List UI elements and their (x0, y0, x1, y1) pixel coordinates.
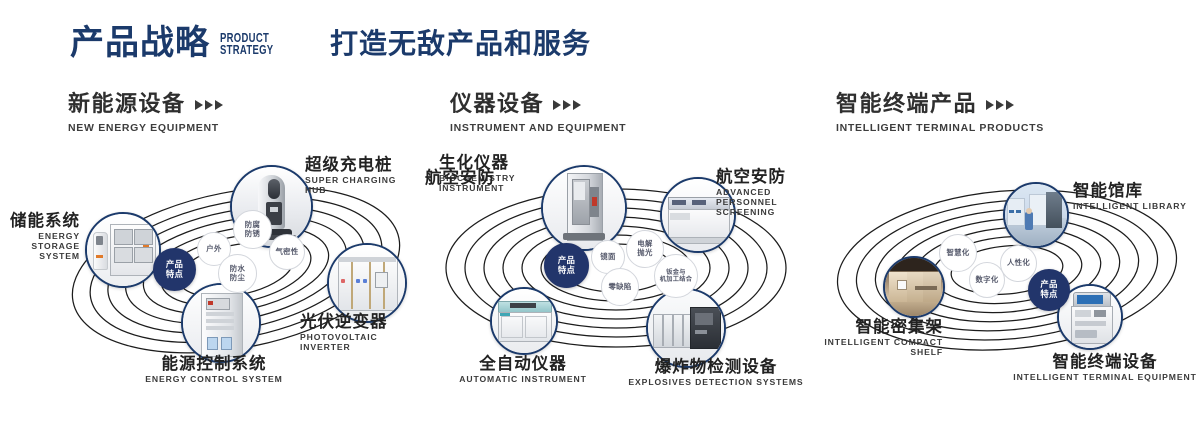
label-aviation-security-left: 航空安防 (390, 169, 495, 187)
feature-bubble-waterproof[interactable]: 防水 防尘 (218, 254, 257, 293)
chevron-right-icon (195, 100, 223, 110)
node-label-cn: 全自动仪器 (438, 355, 608, 373)
section-header-intelligent: 智能终端产品 INTELLIGENT TERMINAL PRODUCTS (836, 94, 1044, 134)
label-intelligent-terminal-equipment: 智能终端设备 INTELLIGENT TERMINAL EQUIPMENT (1010, 353, 1200, 383)
node-label-en: EXPLOSIVES DETECTION SYSTEMS (606, 378, 826, 388)
label-intelligent-compact-shelf: 智能密集架 INTELLIGENT COMPACT SHELF (773, 318, 943, 358)
compact-shelf-photo (885, 258, 943, 316)
page-title: 产品战略 PRODUCT STRATEGY (70, 26, 290, 60)
section-title-cn: 智能终端产品 (836, 94, 977, 116)
section-title-en: NEW ENERGY EQUIPMENT (68, 122, 223, 134)
feature-bubble-anticorrosion[interactable]: 防腐 防锈 (233, 210, 272, 249)
node-label-cn: 能源控制系统 (89, 355, 339, 373)
node-label-en: PHOTOVOLTAIC INVERTER (300, 333, 415, 352)
node-intelligent-compact-shelf[interactable] (883, 256, 945, 318)
node-label-cn: 智能密集架 (773, 318, 943, 336)
page-title-en: PRODUCT STRATEGY (220, 32, 273, 61)
node-label-cn: 光伏逆变器 (300, 313, 415, 331)
label-photovoltaic-inverter: 光伏逆变器 PHOTOVOLTAIC INVERTER (300, 313, 415, 353)
cluster-new-energy: 超级充电桩 SUPER CHARGING HUB 储能系统 (55, 150, 415, 380)
node-energy-control-system[interactable] (181, 283, 261, 363)
feature-bubble-zero-defect[interactable]: 零缺陷 (601, 268, 639, 306)
section-title-cn: 仪器设备 (450, 94, 544, 116)
cluster-instrument: 生化仪器 BIOCHEMISTRY INSTRUMENT 航空安防 航空安防 A… (420, 150, 810, 385)
explosives-detector-photo (648, 290, 724, 366)
label-intelligent-library: 智能馆库 INTELLIGENT LIBRARY (1073, 182, 1187, 212)
feature-bubble-key[interactable]: 产品 特点 (153, 248, 196, 291)
page-subtitle: 打造无敌产品和服务 (330, 30, 591, 58)
node-biochemistry-instrument[interactable] (541, 165, 627, 251)
pv-inverter-photo (329, 245, 405, 321)
node-automatic-instrument[interactable] (490, 287, 558, 355)
feature-bubble-key[interactable]: 产品 特点 (544, 243, 589, 288)
feature-bubble-sheetmetal-machining[interactable]: 钣金与 机加工结合 (654, 254, 698, 298)
chevron-right-icon (553, 100, 581, 110)
section-header-instrument: 仪器设备 INSTRUMENT AND EQUIPMENT (450, 94, 626, 134)
node-intelligent-library[interactable] (1003, 182, 1069, 248)
node-label-en: INTELLIGENT COMPACT SHELF (773, 338, 943, 357)
label-automatic-instrument: 全自动仪器 AUTOMATIC INSTRUMENT (438, 355, 608, 385)
node-label-cn: 储能系统 (0, 212, 80, 230)
automatic-instrument-photo (492, 289, 556, 353)
feature-bubble-smart[interactable]: 智慧化 (939, 234, 977, 272)
label-energy-storage-system: 储能系统 ENERGY STORAGE SYSTEM (0, 212, 80, 261)
chevron-right-icon (986, 100, 1014, 110)
node-label-en: ENERGY STORAGE SYSTEM (0, 232, 80, 261)
section-header-new-energy: 新能源设备 NEW ENERGY EQUIPMENT (68, 94, 223, 134)
node-label-en: INTELLIGENT LIBRARY (1073, 202, 1187, 212)
node-label-en: AUTOMATIC INSTRUMENT (438, 375, 608, 385)
node-label-en: INTELLIGENT TERMINAL EQUIPMENT (1010, 373, 1200, 383)
node-label-cn: 爆炸物检测设备 (606, 358, 826, 376)
section-title-cn: 新能源设备 (68, 94, 186, 116)
label-explosives-detection-systems: 爆炸物检测设备 EXPLOSIVES DETECTION SYSTEMS (606, 358, 826, 388)
poster-canvas: 产品战略 PRODUCT STRATEGY 打造无敌产品和服务 新能源设备 NE… (0, 0, 1200, 422)
node-label-cn: 智能馆库 (1073, 182, 1187, 200)
node-label-cn: 航空安防 (390, 169, 495, 187)
section-title-en: INTELLIGENT TERMINAL PRODUCTS (836, 122, 1044, 134)
node-energy-storage-system[interactable] (85, 212, 161, 288)
node-photovoltaic-inverter[interactable] (327, 243, 407, 323)
control-cabinet-photo (183, 285, 259, 361)
label-energy-control-system: 能源控制系统 ENERGY CONTROL SYSTEM (89, 355, 339, 385)
node-label-cn: 智能终端设备 (1010, 353, 1200, 371)
node-label-cn: 航空安防 (716, 168, 810, 186)
section-title-en: INSTRUMENT AND EQUIPMENT (450, 122, 626, 134)
feature-bubble-key[interactable]: 产品 特点 (1028, 269, 1070, 311)
node-label-en: ADVANCED PERSONNEL SCREENING (716, 188, 810, 217)
cluster-intelligent: 智能馆库 INTELLIGENT LIBRARY 智能密集架 INTELLIGE… (815, 150, 1200, 385)
label-advanced-personnel-screening: 航空安防 ADVANCED PERSONNEL SCREENING (716, 168, 810, 217)
page-title-cn: 产品战略 (70, 26, 210, 60)
feature-bubble-airtight[interactable]: 气密性 (269, 234, 305, 270)
intelligent-library-photo (1005, 184, 1067, 246)
biochemistry-instrument-photo (543, 167, 625, 249)
node-explosives-detection-systems[interactable] (646, 288, 726, 368)
battery-cabinet-photo (87, 214, 159, 286)
node-label-en: ENERGY CONTROL SYSTEM (89, 375, 339, 385)
